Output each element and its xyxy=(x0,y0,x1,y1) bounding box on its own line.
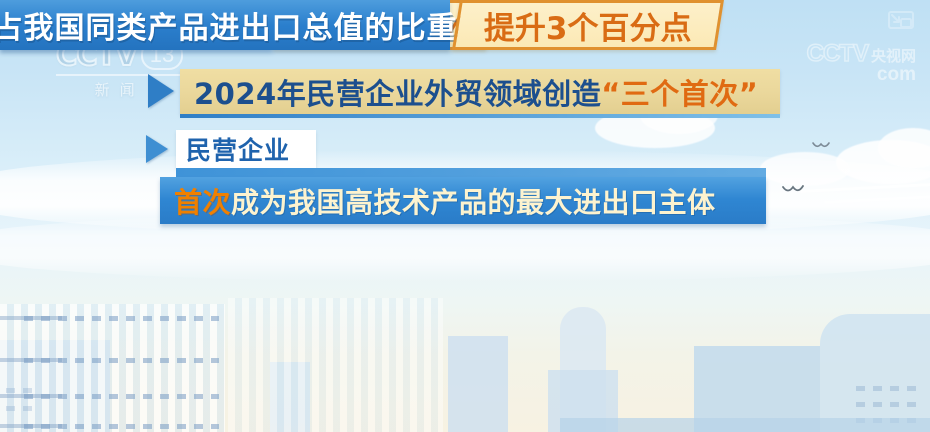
statement-highlight: 首次 xyxy=(174,187,231,218)
watermark-cn-text: 央视网 xyxy=(871,48,916,65)
subtitle-chip: 民营企业 xyxy=(176,130,316,168)
statement-main: 成为我国高技术产品的最大进出口主体 xyxy=(231,187,716,218)
ground-strip xyxy=(560,418,930,432)
window-row xyxy=(24,424,219,429)
cctv-com-watermark: CCTV央视网 com xyxy=(807,40,916,86)
window-row xyxy=(6,388,40,393)
stat-2-label: 占我国同类产品进出口总值的比重 xyxy=(0,3,458,47)
stat-2-label-box: 占我国同类产品进出口总值的比重 xyxy=(0,0,450,50)
headline-title-text: 2024年民营企业外贸领域创造“三个首次” xyxy=(194,71,758,113)
glass-tower xyxy=(228,298,443,432)
watermark-com-text: com xyxy=(807,64,916,86)
stat-2-value-tag: 提升3个百分点 xyxy=(452,0,724,50)
bird-icon xyxy=(812,142,828,151)
window-row xyxy=(6,406,40,411)
subtitle-text: 民营企业 xyxy=(186,131,290,167)
bird-icon xyxy=(782,184,798,193)
title-underline xyxy=(180,114,780,118)
window-row xyxy=(856,402,924,407)
picture-in-picture-icon[interactable] xyxy=(888,8,914,37)
subtitle-underline xyxy=(176,168,766,177)
window-row xyxy=(24,316,219,321)
broadcast-graphic: CCTV13 新闻 CCTV央视网 com 2024年民营企业外贸领域创造“三个… xyxy=(0,0,930,432)
building xyxy=(448,336,508,432)
headline-title-bar: 2024年民营企业外贸领域创造“三个首次” xyxy=(180,69,780,114)
statement-bar: 首次成为我国高技术产品的最大进出口主体 xyxy=(160,177,766,224)
triangle-right-icon xyxy=(146,135,168,163)
triangle-right-icon xyxy=(148,74,174,108)
watermark-cctv-text: CCTV xyxy=(807,40,868,67)
statement-text: 首次成为我国高技术产品的最大进出口主体 xyxy=(174,181,716,221)
building xyxy=(820,314,930,432)
city-skyline xyxy=(0,282,930,432)
window-row xyxy=(24,358,219,363)
stat-2-value: 提升3个百分点 xyxy=(484,3,692,48)
window-row xyxy=(856,386,924,391)
headline-title-highlight: “三个首次” xyxy=(601,77,758,111)
window-row xyxy=(24,394,219,399)
headline-title-main: 2024年民营企业外贸领域创造 xyxy=(194,77,601,111)
glass-tower xyxy=(0,304,225,432)
